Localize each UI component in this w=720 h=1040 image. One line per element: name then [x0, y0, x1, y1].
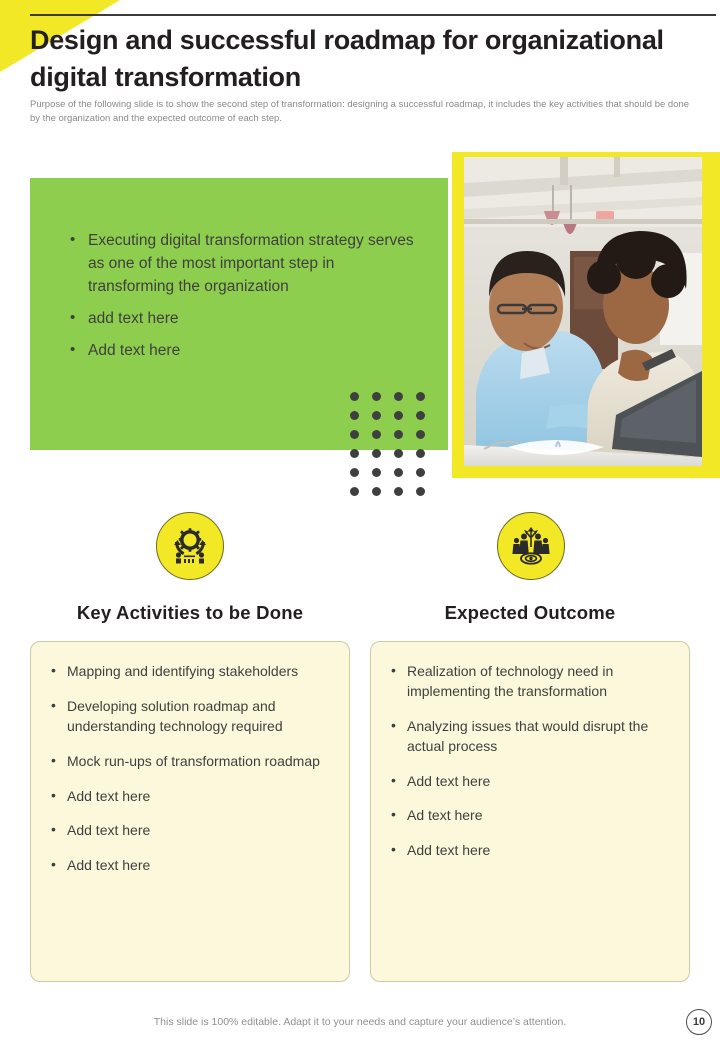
- green-callout-list: Executing digital transformation strateg…: [70, 230, 422, 372]
- team-photo-illustration: [464, 157, 702, 466]
- slide-canvas: Design and successful roadmap for organi…: [0, 0, 720, 1040]
- dot: [416, 392, 425, 401]
- list-item: Executing digital transformation strateg…: [70, 230, 422, 299]
- list-item: add text here: [70, 308, 422, 331]
- list-item: Add text here: [49, 821, 331, 841]
- dot: [416, 449, 425, 458]
- page-title: Design and successful roadmap for organi…: [30, 22, 670, 97]
- dot: [372, 430, 381, 439]
- list-item: Add text here: [49, 787, 331, 807]
- team-photo: [464, 157, 702, 466]
- dot: [372, 449, 381, 458]
- photo-yellow-frame: [452, 152, 720, 478]
- list-item: Mock run-ups of transformation roadmap: [49, 752, 331, 772]
- dot: [350, 392, 359, 401]
- dot: [372, 411, 381, 420]
- list-item: Add text here: [49, 856, 331, 876]
- dot: [394, 411, 403, 420]
- dot: [416, 468, 425, 477]
- dot: [416, 411, 425, 420]
- dot-grid-decoration: [350, 392, 438, 506]
- dot: [350, 449, 359, 458]
- column-heading-key-activities: Key Activities to be Done: [30, 602, 350, 624]
- list-item: Developing solution roadmap and understa…: [49, 697, 331, 737]
- people-target-icon-glyph: [510, 525, 552, 567]
- list-item: Mapping and identifying stakeholders: [49, 662, 331, 682]
- dot: [350, 468, 359, 477]
- header-divider: [30, 14, 716, 16]
- list-item: Analyzing issues that would disrupt the …: [389, 717, 671, 757]
- page-subtitle: Purpose of the following slide is to sho…: [30, 98, 690, 126]
- dot: [416, 430, 425, 439]
- dot: [372, 392, 381, 401]
- gear-people-icon-glyph: [169, 525, 211, 567]
- dot: [394, 449, 403, 458]
- column-heading-expected-outcome: Expected Outcome: [370, 602, 690, 624]
- list-item: Add text here: [389, 772, 671, 792]
- dot: [350, 487, 359, 496]
- dot: [394, 487, 403, 496]
- people-target-icon: [497, 512, 565, 580]
- dot: [350, 411, 359, 420]
- key-activities-panel: Mapping and identifying stakeholdersDeve…: [30, 641, 350, 982]
- list-item: Add text here: [389, 841, 671, 861]
- key-activities-list: Mapping and identifying stakeholdersDeve…: [31, 642, 349, 876]
- dot: [394, 430, 403, 439]
- list-item: Add text here: [70, 340, 422, 363]
- expected-outcome-panel: Realization of technology need in implem…: [370, 641, 690, 982]
- expected-outcome-list: Realization of technology need in implem…: [371, 642, 689, 861]
- dot: [372, 487, 381, 496]
- footer-note: This slide is 100% editable. Adapt it to…: [0, 1016, 720, 1028]
- dot: [394, 468, 403, 477]
- dot: [372, 468, 381, 477]
- page-number-badge: 10: [686, 1009, 712, 1035]
- list-item: Realization of technology need in implem…: [389, 662, 671, 702]
- dot: [350, 430, 359, 439]
- list-item: Ad text here: [389, 806, 671, 826]
- gear-people-icon: [156, 512, 224, 580]
- dot: [394, 392, 403, 401]
- dot: [416, 487, 425, 496]
